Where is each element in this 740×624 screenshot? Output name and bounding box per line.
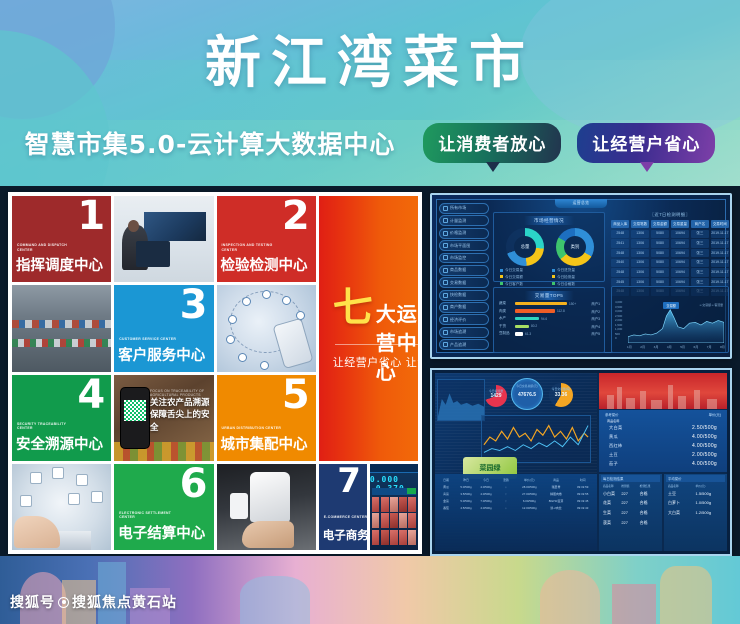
legend-item: 今日检测量 [552,274,575,281]
control-room-image [114,196,213,282]
sidebar-item-label: 市场平面图 [450,243,470,249]
legend-label: 今日进货量 [557,268,575,272]
sidebar-item-label: 市场追溯 [450,329,466,335]
market-operation-card: 市场经营情况 总量 类别 今日交易量 今日交易额 今日客户数 今日进货量 今日检… [493,212,605,282]
table-header-row: 商品名称 检测值 检测结果 [601,482,660,489]
page-subtitle: 智慧市集5.0-云计算大数据中心 [25,125,396,161]
photo-control-room [114,196,213,282]
network-node-icon [30,472,42,484]
smartphone-image [272,318,313,369]
average-price-table: 平均菜价 商品名称 单价(元) 土豆1.5/500g 白萝卜1.0/500g 大… [664,474,727,551]
table-header: 检测值 [621,484,639,488]
sidebar-item-label: 产品追溯 [450,342,466,348]
center-cn-5: 城市集配中心 [221,433,308,454]
cell: 黄瓜 [437,485,455,489]
cell: 12.00/500g [517,506,542,510]
legend-item: 今日交易量 [500,267,523,274]
cell: 韭菜 [437,499,455,503]
qr-caption-line1: 关注农产品溯源 [150,397,210,409]
center-en-6: ELECTRONIC SETTLEMENT CENTER [119,511,179,520]
cell: 227 [621,520,639,526]
legend-label: 今日合格数 [557,282,575,286]
menu-icon [443,293,448,298]
y-tick: 2,000 [615,318,622,323]
numcard-4: 4 SECURITY TRACEABILITY CENTER 安全溯源中心 [12,375,111,461]
cell: 09:19:43 [570,506,595,510]
table-header: 单价(元) [696,484,724,488]
x-tick: 1月 [627,344,632,349]
cell: 4.0/500g [477,492,495,496]
gauge-value: 33.36 [549,392,573,398]
gauge-value: 1429 [485,393,507,399]
center-en-5: URBAN DISTRIBUTION CENTER [222,426,282,431]
cell: 09:19:45 [570,499,595,503]
center-card-2: 2 INSPECTION AND TESTING CENTER 检验检测中心 [217,196,316,282]
center-number-3: 3 [180,285,208,325]
daily-test-table: 每日检测结果 商品名称 检测值 检测结果 小白菜227合格 花菜227合格 生菜… [599,474,662,551]
bar-name: 干货 [499,324,513,329]
center-cn-4: 安全溯源中心 [16,433,103,454]
pos-product-tile[interactable] [372,530,380,545]
bar-row: 豆制品61.3商户5 [499,331,600,336]
operation-centers-grid: 1 COMMAND AND DISPATCH CENTER 指挥调度中心 2 I… [12,196,418,550]
cell: 张三 [691,239,709,247]
numcard-6: 6 ELECTRONIC SETTLEMENT CENTER 电子结算中心 [114,464,213,550]
seven-subtitle: 让经营户省心 让消费者放心 [333,354,418,370]
pos-product-tile[interactable] [372,497,380,512]
cell: 1306 [631,268,649,276]
iot-phone-image [217,285,316,371]
network-laptop-image [12,464,111,550]
market-led-inner: 今日客流量 1429 今日交易总额(元) 47676.5 今日交易量(吨) 33… [435,373,727,551]
hand-image [242,521,294,549]
sidebar-item-11[interactable]: 产品追溯 [439,339,489,350]
price-panel-right-label: 单价(元) [709,412,721,417]
led-left-lower-tables: 日期 昨日 今日 涨跌 黄瓜5.0/500g4.0/500g↓ 青菜3.5/50… [435,474,597,551]
cell: ↑ [497,492,515,496]
cell: 番茄 [437,506,455,510]
center-card-7-and-pos: 7 E-COMMERCE CENTER 电子商务中心 0.000 0.370 [319,464,418,550]
price-row: 大白菜2.50/500g [599,424,727,433]
qr-caption-line2: 保障舌尖上的安全 [150,409,210,434]
table-row: 6.00/500g802/33豆芽09:19:45 [517,497,595,504]
table-header: 涨跌 [497,478,515,482]
center-cn-1: 指挥调度中心 [16,254,103,275]
network-node-icon [20,495,32,507]
seven-divider [335,344,418,345]
table-row: 12.00/500g鲜-2肉丝09:19:43 [517,504,595,511]
cell: 28.00/500g [517,485,542,489]
pos-product-tile[interactable] [381,497,389,512]
x-tick: 6月 [693,344,698,349]
seven-centers-banner: 七 大运营中心 让经营户省心 让消费者放心 [319,196,418,461]
network-node-icon [68,493,80,505]
table-header: 交易笔数 [631,220,649,228]
center-cn-6: 电子结算中心 [118,522,205,543]
detail-table-title: 〖近7日检测明细〗 [611,212,729,218]
led-left-table-pair: 日期 昨日 今日 涨跌 黄瓜5.0/500g4.0/500g↓ 青菜3.5/50… [435,474,597,513]
pos-product-tile[interactable] [408,530,416,545]
cell: 张三 [691,249,709,257]
cell: 10694 [671,239,689,247]
cell: 土豆 [668,491,696,497]
cell: 10694 [671,249,689,257]
cell: 4.0/500g [477,506,495,510]
pos-product-tile[interactable] [390,530,398,545]
pos-product-tile[interactable] [372,513,380,528]
center-number-5: 5 [282,375,310,415]
numcard-3: 3 CUSTOMER SERVICE CENTER 客户服务中心 [114,285,213,371]
cell: 5080 [651,259,669,267]
price-panel-header: 参考菜价 单价(元) [599,410,727,417]
cell: 猪里脊 [544,485,569,489]
dashboard-sidebar: 所有市场 计量监测 价格监测 市场平面图 市场监控 商品数据 交易数据 快检数据… [439,202,489,350]
seven-number: 七 [333,288,373,328]
cell: 1306 [631,259,649,267]
table-row: 25401306508010694张三2019.11.17 [611,259,729,267]
footer-shape [240,576,310,624]
gauge-visitors: 今日客流量 1429 [485,385,507,407]
pos-confirm-button[interactable] [407,488,416,494]
price-row: 黄瓜4.00/500g [599,433,727,442]
watermark: 搜狐号 搜狐焦点黄石站 [10,592,177,612]
menu-icon [443,231,448,236]
photo-qr-traceability: FOCUS ON TRACEABILITY OF AGRICULTURAL PR… [114,375,213,461]
skyline-building [694,390,700,409]
transaction-top5-title: 交易量TOP5 [525,291,574,300]
center-card-4: 4 SECURITY TRACEABILITY CENTER 安全溯源中心 [12,375,111,461]
table-row: 大白菜1.2/500g [666,508,725,518]
sidebar-item-label: 快检数据 [450,292,466,298]
cell: 5.0/500g [457,485,475,489]
iot-node-icon [260,361,269,370]
hand-image [14,516,60,549]
terminal-device [250,472,290,522]
cell: 1.5/500g [696,491,724,497]
cell: 5.0/500g [457,499,475,503]
table-row: 27.00/500g精瘦肉卷09:19:55 [517,490,595,497]
cell: 1306 [631,249,649,257]
table-header: 时间 [570,478,595,482]
table-header: 昨日 [457,478,475,482]
cell: 6.00/500g [517,499,542,503]
cell: 10694 [671,268,689,276]
reference-price-panel: 参考菜价 单价(元) 商品名称 大白菜2.50/500g 黄瓜4.00/500g… [599,410,727,472]
payment-terminal-image [217,464,316,550]
page-title: 新江湾菜市 [0,18,740,99]
transaction-log-table: 单价(元) 商品 时间 28.00/500g猪里脊09:19:59 27.00/… [517,476,595,511]
center-number-4: 4 [77,375,105,415]
cell: 4.0/500g [477,485,495,489]
pos-product-tile[interactable] [408,497,416,512]
cell: 27.00/500g [517,492,542,496]
menu-icon [443,243,448,248]
photo-iot-phone [217,285,316,371]
sidebar-item-10[interactable]: 市场追溯 [439,327,489,338]
table-header: 交易重量 [671,220,689,228]
skyline-building [617,387,622,409]
x-tick: 4月 [667,344,672,349]
seven-banner-inner: 七 大运营中心 让经营户省心 让消费者放心 [319,196,418,461]
average-price-title: 平均菜价 [666,475,725,482]
price-row: 土豆2.00/500g [599,450,727,459]
skyline-building [651,400,662,409]
cell: ↓ [497,506,515,510]
footer-shape [612,584,656,624]
photo-network-laptop [12,464,111,550]
sidebar-item-label: 市场监控 [450,255,466,261]
network-node-icon [52,467,64,479]
cell: 1306 [631,239,649,247]
skyline-building [626,398,635,409]
area-series-path [628,310,724,343]
table-row: 25411306508010694张三2019.11.17 [611,239,729,247]
bar-value: 80.2 [531,324,537,328]
bar-value: 150+ [569,302,576,306]
sidebar-item-0[interactable]: 所有市场 [439,203,489,214]
skyline-building [668,385,673,409]
price-value: 4.00/500g [692,461,717,467]
price-name: 茄子 [609,461,618,467]
cup-object [230,493,248,519]
price-name: 黄瓜 [609,434,618,440]
center-card-6: 6 ELECTRONIC SETTLEMENT CENTER 电子结算中心 [114,464,213,550]
cell: 合格 [640,500,658,506]
table-row: 韭菜5.0/500g7.0/500g↑ [437,497,515,504]
y-tick: 4,000 [615,300,622,305]
center-card-1: 1 COMMAND AND DISPATCH CENTER 指挥调度中心 [12,196,111,282]
bar-row: 肉类112.8商户2 [499,309,600,314]
y-tick: 1,000 [615,327,622,332]
donut-chart-total: 总量 [506,228,544,266]
table-row: 花菜227合格 [601,499,660,509]
legend-right: 今日进货量 今日检测量 今日合格数 [552,267,575,287]
cell: 09:19:59 [570,485,595,489]
cell: 5080 [651,249,669,257]
table-row: 白萝卜1.0/500g [666,499,725,509]
cell: 鲜-2肉丝 [544,506,569,510]
menu-icon [443,280,448,285]
bar-name: 蔬菜 [499,301,513,306]
table-row: 25481306508010694张三2019.11.17 [611,230,729,238]
led-lower-tables: 每日检测结果 商品名称 检测值 检测结果 小白菜227合格 花菜227合格 生菜… [599,474,727,551]
cell: 2541 [611,239,629,247]
watermark-suffix: 搜狐焦点黄石站 [72,592,177,612]
watermark-prefix: 搜狐号 [10,592,55,612]
sidebar-item-label: 所有市场 [450,205,466,211]
center-number-2: 2 [282,196,310,236]
table-header: 日期 [437,478,455,482]
cell: ↑ [497,499,515,503]
price-value: 4.00/500g [692,434,717,440]
sidebar-item-4[interactable]: 市场监控 [439,253,489,264]
table-row: 土豆1.5/500g [666,489,725,499]
center-en-2: INSPECTION AND TESTING CENTER [222,243,282,252]
table-header: 交易金额 [651,220,669,228]
menu-icon [443,218,448,223]
table-row: 28.00/500g猪里脊09:19:59 [517,483,595,490]
cell: 5080 [651,230,669,238]
qr-traceability-image: FOCUS ON TRACEABILITY OF AGRICULTURAL PR… [114,375,213,461]
cell: 2019.11.17 [711,259,729,267]
bar-value: 112.8 [557,309,565,313]
donut-total-label: 总量 [506,244,544,250]
table-row: 25481306508010694张三2019.11.17 [611,268,729,276]
cell: 张三 [691,268,709,276]
bar-name: 肉类 [499,309,513,314]
cell: 10694 [671,259,689,267]
menu-icon [443,305,448,310]
cell: 合格 [640,491,658,497]
trend-area-chart-card: 4,000 3,500 3,000 2,500 2,000 1,500 1,00… [611,286,729,353]
bar-seller: 商户5 [591,331,600,336]
pos-product-tile[interactable] [408,513,416,528]
bar-row: 干货80.2商户4 [499,324,600,329]
trend-area-chart: 4,000 3,500 3,000 2,500 2,000 1,500 1,00… [615,300,725,349]
pos-product-tile[interactable] [381,513,389,528]
sidebar-item-2[interactable]: 价格监测 [439,228,489,239]
sidebar-item-1[interactable]: 计量监测 [439,215,489,226]
table-row: 25481306508010694张三2019.11.17 [611,249,729,257]
network-node-icon [91,491,103,503]
numcard-1: 1 COMMAND AND DISPATCH CENTER 指挥调度中心 [12,196,111,282]
donut-chart-category: 类别 [556,228,594,266]
sidebar-item-3[interactable]: 市场平面图 [439,240,489,251]
brand-logo-text: 菜园绿 [480,463,501,473]
table-header: 商品名称 [603,484,621,488]
pos-product-tile[interactable] [390,513,398,528]
bar-value: 61.3 [525,332,531,336]
table-header-row: 日期 昨日 今日 涨跌 [437,476,515,483]
table-header: 单价(元) [517,478,542,482]
table-header-row: 单价(元) 商品 时间 [517,476,595,483]
pos-product-tile[interactable] [390,497,398,512]
page-header: 新江湾菜市 智慧市集5.0-云计算大数据中心 让消费者放心 让经营户省心 [0,0,740,186]
price-name: 大白菜 [609,425,622,431]
sidebar-item-5[interactable]: 商品数据 [439,265,489,276]
price-row: 茄子4.00/500g [599,459,727,468]
price-row: 西红柿4.00/500g [599,442,727,451]
person-silhouette [122,225,148,270]
bar-name: 豆制品 [499,331,513,336]
market-shelves-image [12,285,111,371]
menu-icon [443,317,448,322]
cell: 1.2/500g [696,510,724,516]
sidebar-item-6[interactable]: 交易数据 [439,277,489,288]
mini-chart-trend [481,415,591,463]
legend-label: 今日客户数 [505,282,523,286]
bar-seller: 商户1 [591,301,600,306]
pos-product-tile[interactable] [399,513,407,528]
dashboard-tab-overview[interactable]: 运营总览 [555,199,607,208]
skyline-building [640,391,646,409]
transaction-top5-card: 交易量TOP5 蔬菜150+商户1 肉类112.8商户2 水产94.6商户3 干… [493,287,605,353]
area-chart-x-axis: 1月 2月 3月 4月 5月 6月 7月 8月 [627,344,725,349]
pos-screen-image: 0.000 0.370 [370,464,418,550]
table-header: 今日 [477,478,495,482]
x-tick: 5月 [680,344,685,349]
sidebar-item-9[interactable]: 经济评价 [439,314,489,325]
sidebar-item-label: 计量监测 [450,218,466,224]
table-header: 交易时间 [711,220,729,228]
bar-row: 蔬菜150+商户1 [499,301,600,306]
skyline-building [607,395,614,409]
cell: 3.5/500g [457,492,475,496]
skyline-banner [599,373,727,409]
iot-node-icon [228,315,237,324]
numcard-5: 5 URBAN DISTRIBUTION CENTER 城市集配中心 [217,375,316,461]
donut-category-label: 类别 [556,244,594,250]
cell: 2548 [611,230,629,238]
cell: 2019.11.17 [711,230,729,238]
legend-label: 今日交易额 [505,275,523,279]
pos-product-tile[interactable] [399,497,407,512]
price-panel-left-label: 参考菜价 [605,412,619,417]
bar-seller: 商户3 [591,316,600,321]
price-name: 土豆 [609,452,618,458]
center-cn-2: 检验检测中心 [221,254,308,275]
numcard-2: 2 INSPECTION AND TESTING CENTER 检验检测中心 [217,196,316,282]
table-header: 检测结果 [640,484,658,488]
cell: 2548 [611,268,629,276]
price-name: 西红柿 [609,443,622,449]
center-cn-3: 客户服务中心 [118,344,205,365]
cell: 2548 [611,249,629,257]
gauge-label: 今日交易量(吨) [549,387,573,391]
operation-centers-panel: 1 COMMAND AND DISPATCH CENTER 指挥调度中心 2 I… [8,192,422,554]
x-tick: 7月 [707,344,712,349]
sidebar-item-label: 商户数据 [450,304,466,310]
cell: 227 [621,500,639,506]
price-value: 2.50/500g [692,425,717,431]
price-value: 4.00/500g [692,443,717,449]
table-header: 商品入库 [611,220,629,228]
menu-icon [443,268,448,273]
table-header-row: 商品名称 单价(元) [666,482,725,489]
cell: 精瘦肉卷 [544,492,569,496]
sidebar-item-7[interactable]: 快检数据 [439,290,489,301]
cell: 1.0/500g [696,500,724,506]
bar-seller: 商户2 [591,309,600,314]
mini-chart-1 [437,379,485,421]
cell: 5080 [651,268,669,276]
gauge-value: 47676.5 [512,392,542,398]
sidebar-item-8[interactable]: 商户数据 [439,302,489,313]
gauge-label: 今日交易总额(元) [512,384,542,388]
x-tick: 2月 [640,344,645,349]
mini-chart-trend-svg [482,416,590,462]
cell: 张三 [691,259,709,267]
cell: 227 [621,510,639,516]
skyline-building [707,399,717,409]
menu-icon [443,342,448,347]
table-header: 商户名 [691,220,709,228]
center-en-4: SECURITY TRACEABILITY CENTER [17,422,77,431]
x-tick: 3月 [654,344,659,349]
table-header: 商品 [544,478,569,482]
cell: 张三 [691,230,709,238]
pos-product-tile[interactable] [381,530,389,545]
dashboard-body: 市场经营情况 总量 类别 今日交易量 今日交易额 今日客户数 今日进货量 今日检… [493,212,721,348]
center-card-3: 3 CUSTOMER SERVICE CENTER 客户服务中心 [114,285,213,371]
price-value: 2.00/500g [692,452,717,458]
cell: 7.0/500g [477,499,495,503]
cell: 花菜 [603,500,621,506]
pos-product-tile[interactable] [399,530,407,545]
dashboard-overview-inner: 运营总览 所有市场 计量监测 价格监测 市场平面图 市场监控 商品数据 交易数据… [436,199,726,353]
table-header: 商品名称 [668,484,696,488]
sidebar-item-label: 商品数据 [450,267,466,273]
